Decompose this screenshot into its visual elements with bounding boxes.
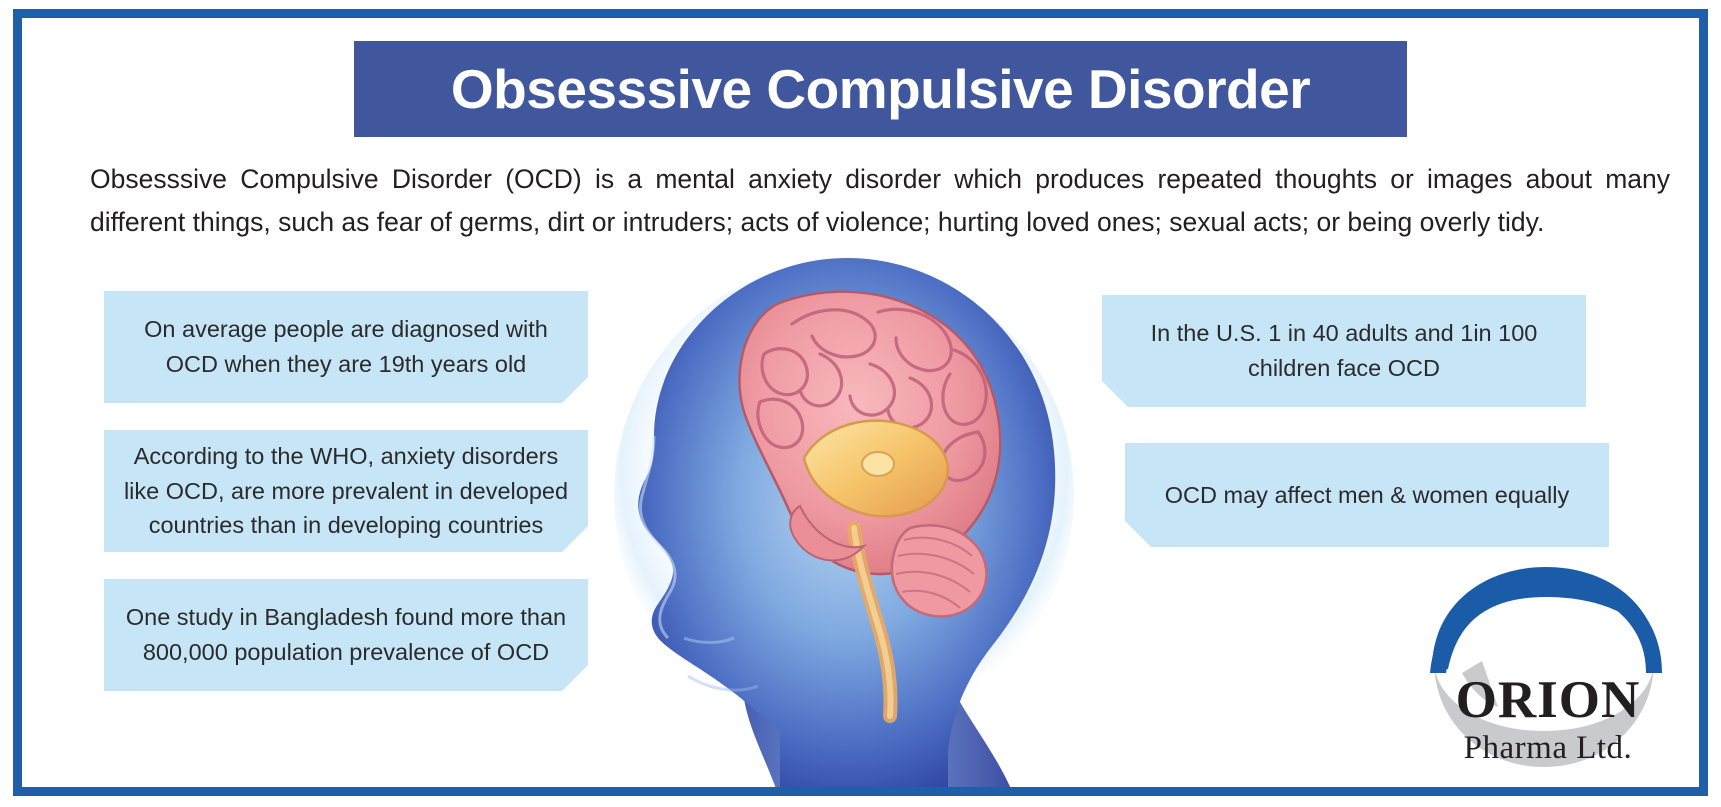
infographic-root: Obsesssive Compulsive Disorder Obsesssiv… — [0, 0, 1721, 807]
callout-gender-equality: OCD may affect men & women equally — [1125, 443, 1609, 547]
callout-text: According to the WHO, anxiety disorders … — [118, 439, 574, 543]
title-banner: Obsesssive Compulsive Disorder — [354, 41, 1407, 137]
callout-text: OCD may affect men & women equally — [1165, 478, 1569, 513]
callout-bangladesh-study: One study in Bangladesh found more than … — [104, 579, 588, 691]
callout-age-of-diagnosis: On average people are diagnosed with OCD… — [104, 291, 588, 403]
callout-us-statistics: In the U.S. 1 in 40 adults and 1in 100 c… — [1102, 295, 1586, 407]
callout-text: One study in Bangladesh found more than … — [118, 600, 574, 669]
orion-pharma-logo: ORION Pharma Ltd. — [1420, 565, 1676, 775]
logo-wordmark: ORION — [1456, 671, 1641, 729]
callout-text: In the U.S. 1 in 40 adults and 1in 100 c… — [1116, 316, 1572, 385]
human-head-brain-illustration — [592, 246, 1122, 791]
callout-text: On average people are diagnosed with OCD… — [118, 312, 574, 381]
intro-paragraph: Obsesssive Compulsive Disorder (OCD) is … — [90, 158, 1670, 244]
callout-who-prevalence: According to the WHO, anxiety disorders … — [104, 430, 588, 552]
logo-subtext: Pharma Ltd. — [1464, 730, 1633, 766]
page-title: Obsesssive Compulsive Disorder — [451, 62, 1310, 117]
blue-frame-border: Obsesssive Compulsive Disorder Obsesssiv… — [13, 9, 1708, 796]
